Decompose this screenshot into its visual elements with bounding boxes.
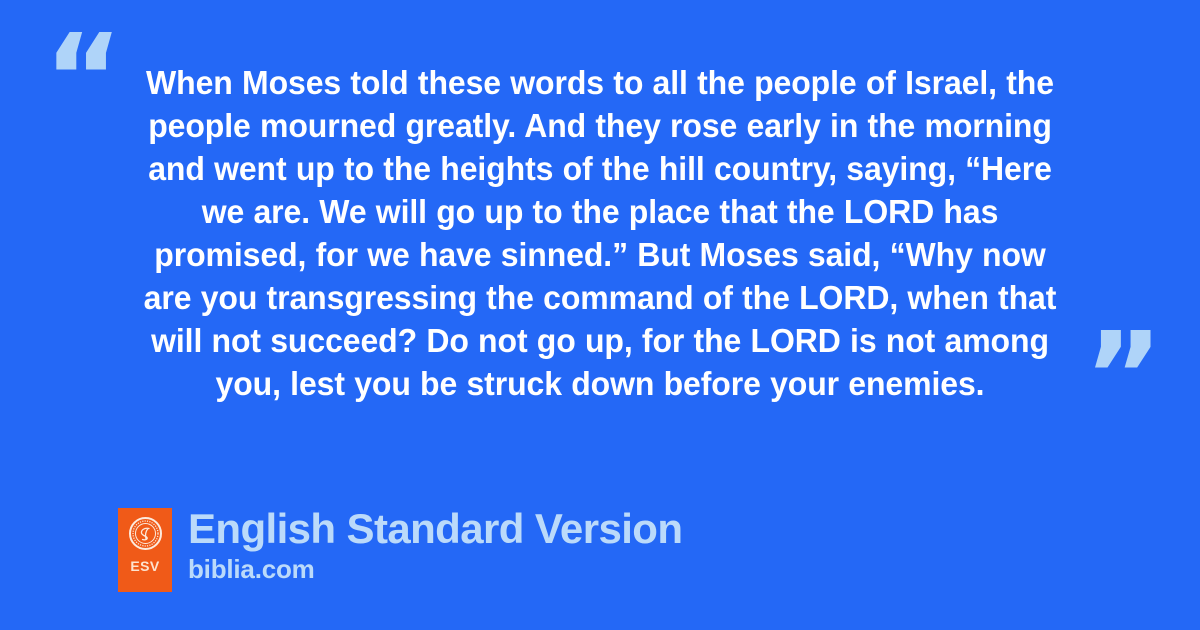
closing-quote-icon: ” xyxy=(1084,318,1161,438)
opening-quote-icon: “ xyxy=(44,20,121,140)
esv-abbreviation-label: ESV xyxy=(130,559,159,573)
quote-line: and went up to the heights of the hill c… xyxy=(123,148,1078,191)
quote-line: are you transgressing the command of the… xyxy=(123,277,1078,320)
quote-line: promised, for we have sinned.” But Moses… xyxy=(123,234,1078,277)
esv-seal-icon xyxy=(129,517,162,550)
esv-logo: ESV xyxy=(118,508,172,592)
quote-line: When Moses told these words to all the p… xyxy=(123,62,1078,105)
quote-text-block: When Moses told these words to all the p… xyxy=(123,62,1078,406)
site-url-label[interactable]: biblia.com xyxy=(188,554,682,584)
quote-card: “ When Moses told these words to all the… xyxy=(0,0,1200,630)
quote-line: we are. We will go up to the place that … xyxy=(123,191,1078,234)
quote-line: will not succeed? Do not go up, for the … xyxy=(123,320,1078,363)
bible-version-name: English Standard Version xyxy=(188,506,682,552)
quote-line: people mourned greatly. And they rose ea… xyxy=(123,105,1078,148)
bible-version-wordmark: English Standard Version biblia.com xyxy=(188,508,682,584)
quote-line: you, lest you be struck down before your… xyxy=(123,363,1078,406)
attribution-footer: ESV English Standard Version biblia.com xyxy=(118,508,682,592)
